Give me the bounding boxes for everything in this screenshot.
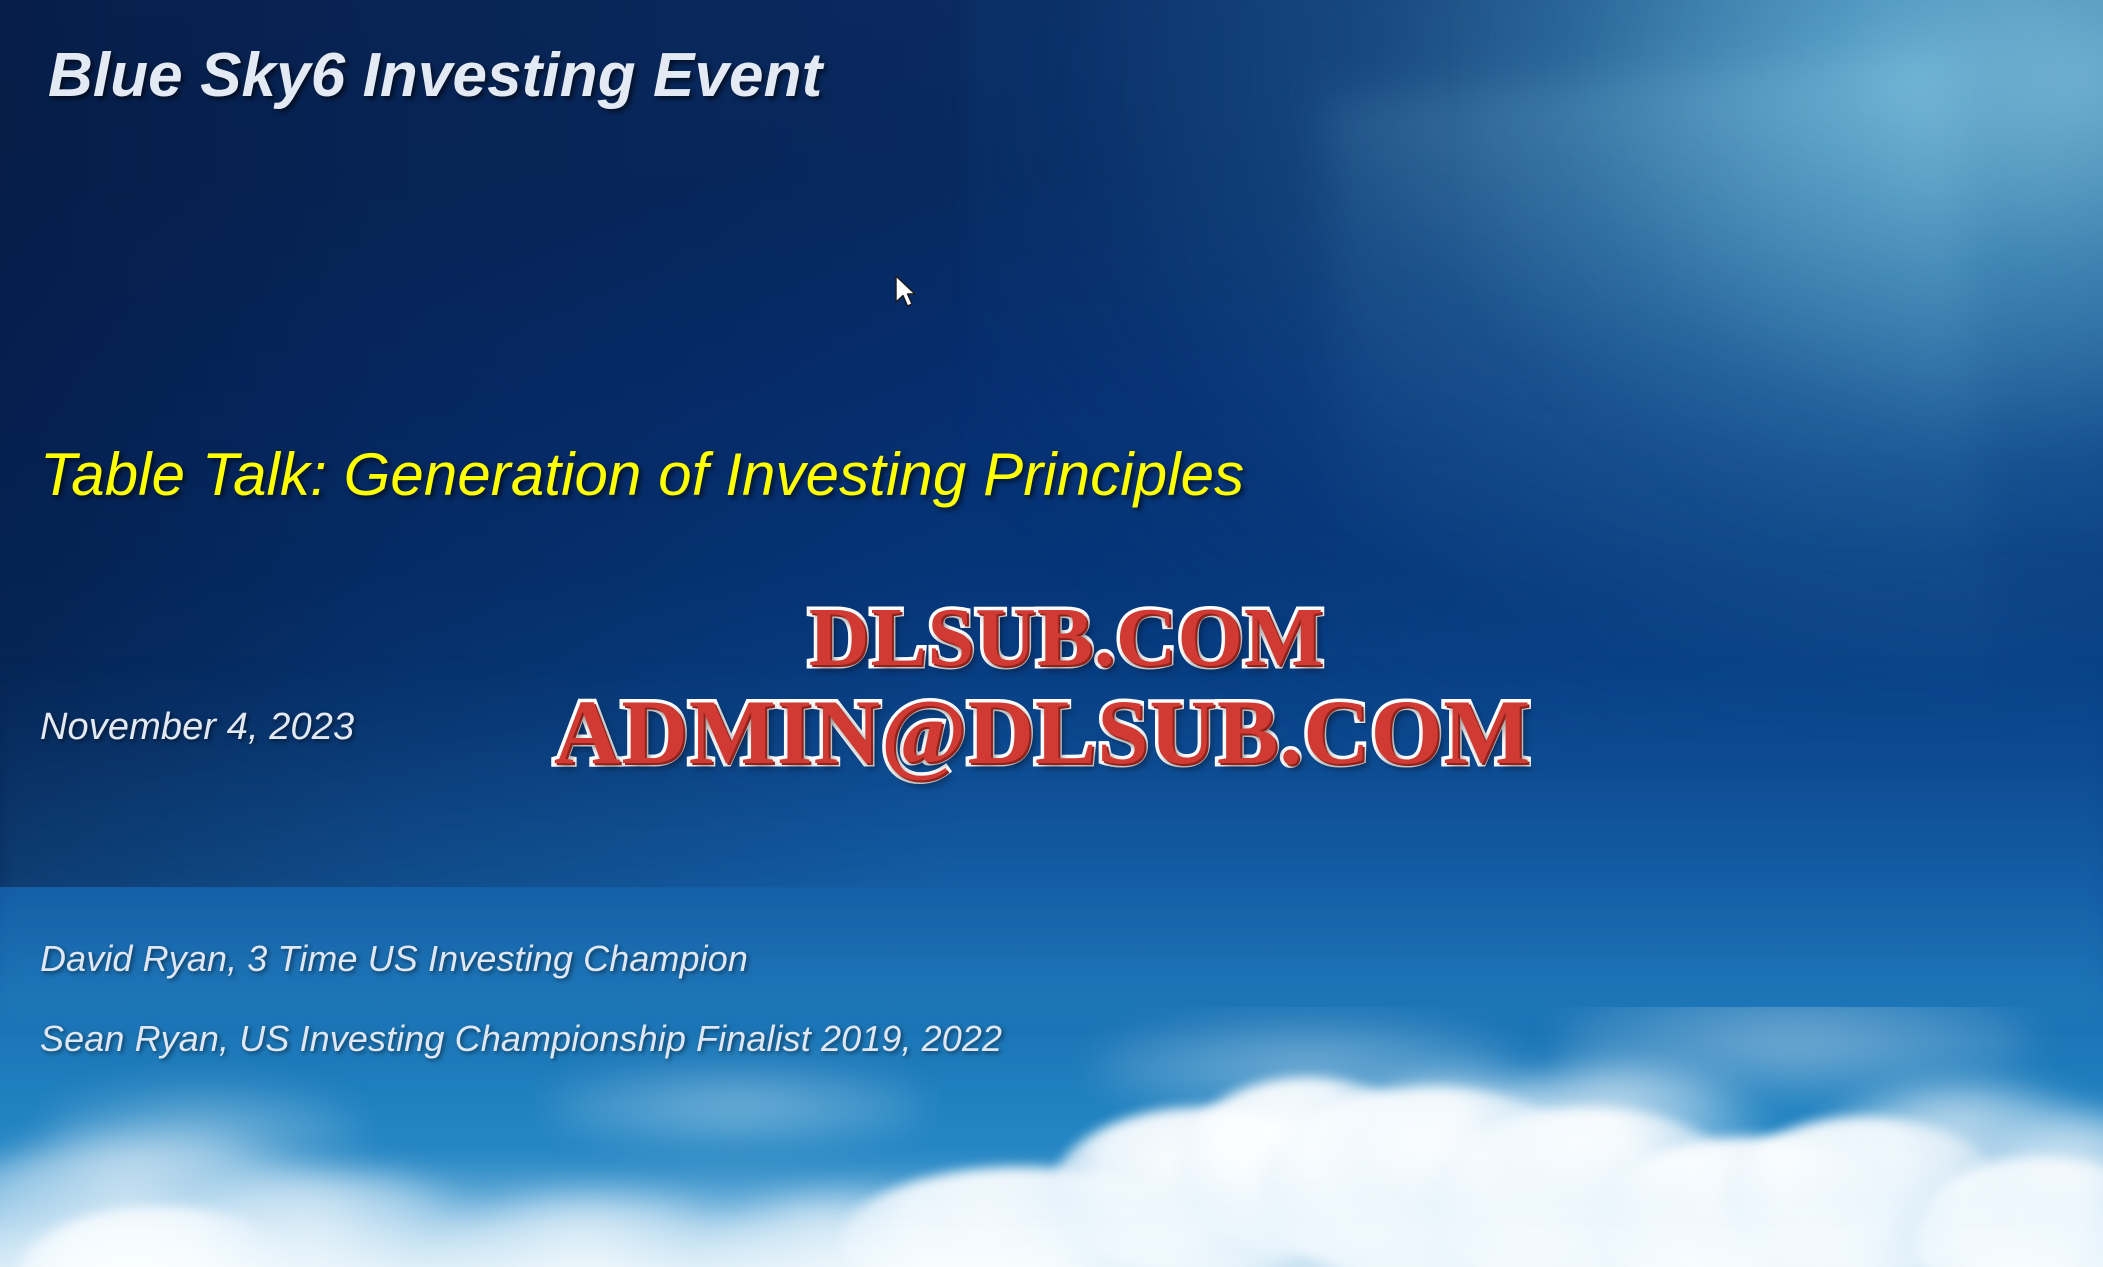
cloud-wisp: [547, 1067, 927, 1147]
speaker-line-2: Sean Ryan, US Investing Championship Fin…: [40, 1018, 1002, 1060]
speaker-line-1: David Ryan, 3 Time US Investing Champion: [40, 938, 748, 980]
presentation-slide: Blue Sky6 Investing Event Table Talk: Ge…: [0, 0, 2103, 1267]
event-title: Blue Sky6 Investing Event: [48, 40, 822, 111]
talk-title: Table Talk: Generation of Investing Prin…: [40, 440, 1244, 509]
event-date: November 4, 2023: [40, 706, 354, 749]
cloud-floor: [0, 1157, 2103, 1267]
